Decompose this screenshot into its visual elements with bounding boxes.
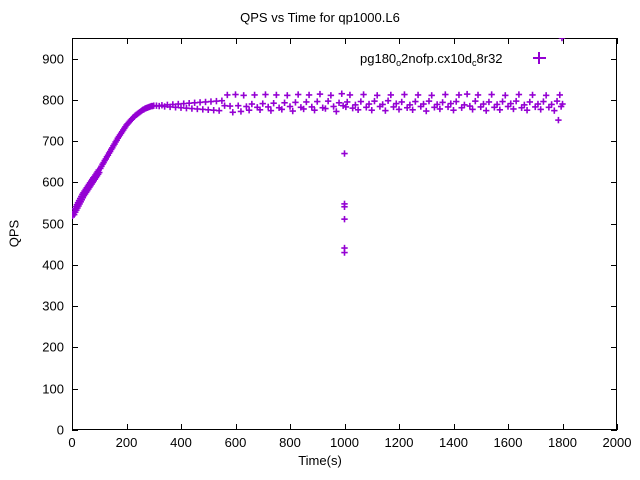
y-tick-label: 900 xyxy=(4,51,64,66)
y-tick-label: 300 xyxy=(4,299,64,314)
y-tick-label: 800 xyxy=(4,92,64,107)
y-tick-label: 400 xyxy=(4,257,64,272)
x-tick-mark xyxy=(617,424,618,430)
y-tick-label: 200 xyxy=(4,340,64,355)
legend-label-subscript: o xyxy=(396,58,401,68)
chart-title: QPS vs Time for qp1000.L6 xyxy=(0,10,640,25)
series-points xyxy=(72,38,566,256)
y-axis-label: QPS xyxy=(7,204,22,264)
legend-label-subscript: c xyxy=(472,58,477,68)
y-tick-label: 500 xyxy=(4,216,64,231)
legend-series-label: pg180o2nofp.cx10dc8r32 xyxy=(360,51,503,66)
chart-page: QPS vs Time for qp1000.L6 QPS Time(s) 01… xyxy=(0,0,640,480)
y-tick-label: 100 xyxy=(4,381,64,396)
legend-marker-icon xyxy=(531,49,549,67)
x-tick-mark xyxy=(617,38,618,44)
y-tick-mark xyxy=(72,430,78,431)
x-tick-label: 2000 xyxy=(577,435,640,450)
y-tick-label: 600 xyxy=(4,175,64,190)
legend-label-text: pg180 xyxy=(360,51,396,66)
y-tick-mark xyxy=(611,430,617,431)
data-points-layer xyxy=(72,38,617,430)
y-tick-label: 700 xyxy=(4,134,64,149)
plot-area xyxy=(72,38,617,430)
x-axis-label: Time(s) xyxy=(0,453,640,468)
legend-label-text: 2nofp.cx10d xyxy=(401,51,472,66)
legend-label-text: 8r32 xyxy=(477,51,503,66)
legend: pg180o2nofp.cx10dc8r32 xyxy=(360,47,549,69)
